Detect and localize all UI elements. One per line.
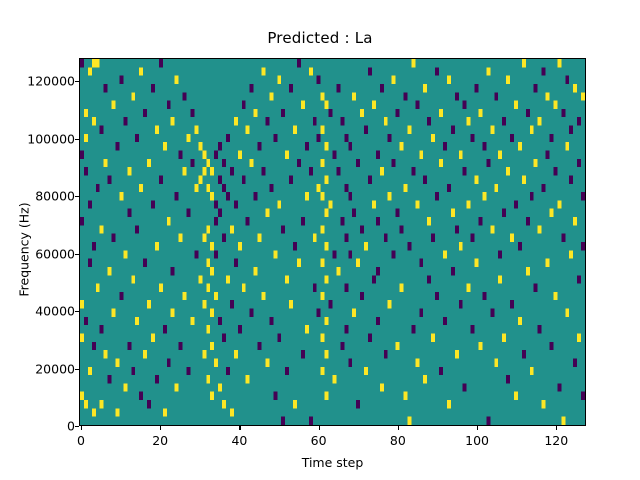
- heatmap-cell: [411, 167, 415, 175]
- heatmap-cell: [404, 92, 408, 100]
- heatmap-cell: [506, 375, 510, 383]
- heatmap-cell: [352, 309, 356, 317]
- heatmap-cell: [265, 209, 269, 217]
- heatmap-cell: [230, 167, 234, 175]
- heatmap-cell: [171, 267, 175, 275]
- heatmap-cell: [289, 175, 293, 183]
- heatmap-cell: [482, 142, 486, 150]
- heatmap-cell: [210, 267, 214, 275]
- heatmap-cell: [321, 225, 325, 233]
- heatmap-cell: [305, 142, 309, 150]
- heatmap-cell: [285, 151, 289, 159]
- heatmap-cell: [471, 325, 475, 333]
- heatmap-cell: [542, 400, 546, 408]
- heatmap-cell: [565, 142, 569, 150]
- heatmap-cell: [336, 84, 340, 92]
- heatmap-cell: [210, 342, 214, 350]
- heatmap-cell: [242, 284, 246, 292]
- heatmap-cell: [206, 284, 210, 292]
- heatmap-cell: [404, 184, 408, 192]
- heatmap-cell: [116, 358, 120, 366]
- heatmap-cell: [490, 225, 494, 233]
- heatmap-cell: [407, 242, 411, 250]
- heatmap-cell: [159, 175, 163, 183]
- heatmap-cell: [356, 259, 360, 267]
- heatmap-cell: [380, 167, 384, 175]
- heatmap-cell: [301, 101, 305, 109]
- heatmap-cell: [325, 101, 329, 109]
- heatmap-cell: [305, 192, 309, 200]
- heatmap-cell: [179, 342, 183, 350]
- heatmap-cell: [281, 417, 285, 425]
- heatmap-cell: [206, 325, 210, 333]
- heatmap-cell: [143, 109, 147, 117]
- heatmap-cell: [289, 84, 293, 92]
- heatmap-cell: [384, 117, 388, 125]
- heatmap-cell: [202, 300, 206, 308]
- heatmap-cell: [194, 184, 198, 192]
- heatmap-cell: [360, 292, 364, 300]
- heatmap-cell: [325, 350, 329, 358]
- heatmap-cell: [202, 151, 206, 159]
- heatmap-cell: [210, 167, 214, 175]
- heatmap-cell: [396, 109, 400, 117]
- x-tick-label: 60: [279, 433, 359, 448]
- heatmap-cell: [581, 192, 585, 200]
- heatmap-cell: [108, 375, 112, 383]
- heatmap-cell: [127, 167, 131, 175]
- heatmap-cell: [313, 117, 317, 125]
- heatmap-cell: [214, 200, 218, 208]
- heatmap-cell: [376, 317, 380, 325]
- heatmap-cell: [96, 284, 100, 292]
- heatmap-cell: [226, 367, 230, 375]
- heatmap-cell: [222, 159, 226, 167]
- heatmap-cell: [439, 159, 443, 167]
- heatmap-cell: [313, 234, 317, 242]
- heatmap-cell: [214, 217, 218, 225]
- heatmap-cell: [151, 200, 155, 208]
- heatmap-cell: [407, 126, 411, 134]
- heatmap-cell: [116, 408, 120, 416]
- heatmap-cell: [325, 142, 329, 150]
- heatmap-cell: [463, 167, 467, 175]
- heatmap-cell: [526, 217, 530, 225]
- heatmap-cell: [392, 250, 396, 258]
- heatmap-cell: [553, 167, 557, 175]
- heatmap-cell: [498, 275, 502, 283]
- heatmap-cell: [321, 292, 325, 300]
- heatmap-cell: [131, 367, 135, 375]
- heatmap-cell: [108, 175, 112, 183]
- heatmap-cell: [451, 267, 455, 275]
- heatmap-cell: [439, 367, 443, 375]
- heatmap-cell: [400, 284, 404, 292]
- x-tick-mark: [239, 426, 240, 430]
- heatmap-cell: [175, 76, 179, 84]
- heatmap-cell: [100, 325, 104, 333]
- heatmap-cell: [210, 309, 214, 317]
- heatmap-cell: [119, 292, 123, 300]
- heatmap-cell: [293, 400, 297, 408]
- heatmap-cell: [119, 76, 123, 84]
- x-tick-label: 20: [120, 433, 200, 448]
- heatmap-cell: [269, 317, 273, 325]
- heatmap-cell: [179, 234, 183, 242]
- heatmap-cell: [325, 317, 329, 325]
- heatmap-cell: [549, 134, 553, 142]
- heatmap-cell: [250, 84, 254, 92]
- heatmap-cell: [301, 350, 305, 358]
- heatmap-cell: [518, 242, 522, 250]
- heatmap-cell: [581, 392, 585, 400]
- heatmap-cell: [463, 101, 467, 109]
- heatmap-cell: [530, 126, 534, 134]
- heatmap-cell: [135, 317, 139, 325]
- heatmap-cell: [100, 400, 104, 408]
- heatmap-cell: [494, 92, 498, 100]
- heatmap-cell: [273, 392, 277, 400]
- x-tick-label: 100: [437, 433, 517, 448]
- heatmap-cell: [187, 367, 191, 375]
- heatmap-cell: [135, 225, 139, 233]
- heatmap-cell: [309, 417, 313, 425]
- heatmap-cell: [218, 383, 222, 391]
- heatmap-cell: [210, 392, 214, 400]
- heatmap-cell: [321, 259, 325, 267]
- heatmap-cell: [364, 126, 368, 134]
- heatmap-cell: [553, 101, 557, 109]
- heatmap-cell: [163, 325, 167, 333]
- heatmap-cell: [238, 242, 242, 250]
- heatmap-cell: [325, 175, 329, 183]
- heatmap-cell: [561, 109, 565, 117]
- heatmap-cell: [340, 117, 344, 125]
- heatmap-cell: [108, 267, 112, 275]
- heatmap-cell: [443, 142, 447, 150]
- heatmap-cell: [510, 234, 514, 242]
- heatmap-cell: [364, 367, 368, 375]
- heatmap-cell: [143, 350, 147, 358]
- heatmap-cell: [198, 175, 202, 183]
- heatmap-cell: [214, 292, 218, 300]
- heatmap-cell: [447, 76, 451, 84]
- heatmap-cell: [542, 184, 546, 192]
- heatmap-cell: [317, 184, 321, 192]
- heatmap-cell: [112, 234, 116, 242]
- heatmap-cell: [435, 67, 439, 75]
- heatmap-cell: [100, 225, 104, 233]
- heatmap-cell: [459, 300, 463, 308]
- heatmap-cell: [297, 159, 301, 167]
- heatmap-cell: [265, 358, 269, 366]
- heatmap-cell: [368, 67, 372, 75]
- heatmap-cell: [84, 134, 88, 142]
- heatmap-cell: [187, 209, 191, 217]
- heatmap-cell: [127, 209, 131, 217]
- heatmap-cell: [119, 192, 123, 200]
- heatmap-cell: [88, 67, 92, 75]
- y-tick-label: 40000: [0, 304, 75, 319]
- x-axis-label: Time step: [79, 455, 586, 470]
- heatmap-cell: [222, 400, 226, 408]
- y-tick-label: 100000: [0, 131, 75, 146]
- heatmap-cell: [447, 184, 451, 192]
- heatmap-cell: [384, 234, 388, 242]
- heatmap-cell: [392, 76, 396, 84]
- heatmap-cell: [325, 209, 329, 217]
- heatmap-cell: [305, 325, 309, 333]
- heatmap-cell: [325, 275, 329, 283]
- heatmap-cell: [348, 250, 352, 258]
- heatmap-cell: [277, 334, 281, 342]
- heatmap-cell: [546, 151, 550, 159]
- heatmap-cell: [427, 275, 431, 283]
- heatmap-cell: [321, 192, 325, 200]
- heatmap-cell: [285, 367, 289, 375]
- heatmap-cell: [151, 334, 155, 342]
- heatmap-image: [80, 59, 585, 425]
- heatmap-cell: [518, 317, 522, 325]
- heatmap-cell: [84, 400, 88, 408]
- heatmap-cell: [254, 192, 258, 200]
- heatmap-cell: [147, 400, 151, 408]
- heatmap-cell: [226, 134, 230, 142]
- heatmap-cell: [190, 109, 194, 117]
- heatmap-cell: [84, 167, 88, 175]
- heatmap-cell: [482, 192, 486, 200]
- heatmap-cell: [206, 375, 210, 383]
- heatmap-cell: [261, 167, 265, 175]
- heatmap-cell: [518, 142, 522, 150]
- heatmap-cell: [514, 392, 518, 400]
- heatmap-cell: [364, 242, 368, 250]
- heatmap-cell: [317, 309, 321, 317]
- heatmap-cell: [530, 367, 534, 375]
- heatmap-cell: [506, 167, 510, 175]
- heatmap-cell: [183, 92, 187, 100]
- heatmap-cell: [104, 350, 108, 358]
- heatmap-cell: [522, 175, 526, 183]
- heatmap-cell: [348, 358, 352, 366]
- heatmap-cell: [80, 392, 84, 400]
- heatmap-cell: [210, 192, 214, 200]
- heatmap-cell: [415, 200, 419, 208]
- heatmap-cell: [478, 217, 482, 225]
- heatmap-cell: [214, 250, 218, 258]
- heatmap-cell: [194, 126, 198, 134]
- heatmap-cell: [581, 92, 585, 100]
- heatmap-cell: [439, 109, 443, 117]
- heatmap-cell: [376, 151, 380, 159]
- heatmap-cell: [100, 126, 104, 134]
- heatmap-cell: [336, 167, 340, 175]
- heatmap-cell: [104, 84, 108, 92]
- heatmap-cell: [431, 234, 435, 242]
- heatmap-cell: [404, 392, 408, 400]
- heatmap-cell: [356, 400, 360, 408]
- heatmap-cell: [116, 142, 120, 150]
- heatmap-cell: [297, 259, 301, 267]
- heatmap-cell: [419, 309, 423, 317]
- heatmap-cell: [147, 300, 151, 308]
- heatmap-cell: [573, 358, 577, 366]
- heatmap-cell: [206, 259, 210, 267]
- heatmap-cell: [329, 109, 333, 117]
- heatmap-cell: [254, 109, 258, 117]
- heatmap-cell: [265, 117, 269, 125]
- heatmap-cell: [494, 358, 498, 366]
- x-tick-mark: [556, 426, 557, 430]
- heatmap-cell: [534, 84, 538, 92]
- heatmap-cell: [80, 217, 84, 225]
- heatmap-cell: [546, 259, 550, 267]
- heatmap-cell: [246, 126, 250, 134]
- heatmap-cell: [459, 242, 463, 250]
- heatmap-cell: [139, 392, 143, 400]
- heatmap-cell: [340, 342, 344, 350]
- page-title: Predicted : La: [0, 29, 640, 47]
- heatmap-cell: [352, 209, 356, 217]
- heatmap-cell: [376, 267, 380, 275]
- heatmap-cell: [577, 334, 581, 342]
- heatmap-cell: [415, 358, 419, 366]
- heatmap-cell: [352, 92, 356, 100]
- x-tick-mark: [319, 426, 320, 430]
- heatmap-cell: [297, 59, 301, 67]
- heatmap-cell: [546, 92, 550, 100]
- heatmap-cell: [112, 309, 116, 317]
- heatmap-cell: [84, 109, 88, 117]
- heatmap-cell: [202, 234, 206, 242]
- heatmap-cell: [451, 126, 455, 134]
- heatmap-cell: [427, 217, 431, 225]
- heatmap-cell: [321, 367, 325, 375]
- heatmap-cell: [210, 242, 214, 250]
- heatmap-cell: [155, 126, 159, 134]
- x-tick-label: 0: [41, 433, 121, 448]
- x-tick-label: 120: [516, 433, 596, 448]
- heatmap-cell: [143, 259, 147, 267]
- heatmap-cell: [190, 317, 194, 325]
- heatmap-cell: [309, 67, 313, 75]
- heatmap-cell: [569, 175, 573, 183]
- heatmap-cell: [222, 234, 226, 242]
- y-tick-mark: [75, 81, 79, 82]
- heatmap-cell: [293, 126, 297, 134]
- heatmap-cell: [526, 267, 530, 275]
- heatmap-cell: [534, 284, 538, 292]
- heatmap-cell: [163, 142, 167, 150]
- heatmap-cell: [569, 250, 573, 258]
- y-tick-label: 60000: [0, 246, 75, 261]
- heatmap-cell: [80, 59, 84, 67]
- heatmap-cell: [344, 234, 348, 242]
- heatmap-cell: [218, 142, 222, 150]
- heatmap-cell: [502, 334, 506, 342]
- heatmap-cell: [226, 275, 230, 283]
- heatmap-cell: [471, 234, 475, 242]
- heatmap-cell: [198, 275, 202, 283]
- heatmap-cell: [92, 408, 96, 416]
- heatmap-cell: [80, 151, 84, 159]
- heatmap-cell: [242, 175, 246, 183]
- heatmap-cell: [261, 67, 265, 75]
- heatmap-cell: [321, 159, 325, 167]
- heatmap-cell: [226, 192, 230, 200]
- heatmap-cell: [475, 84, 479, 92]
- heatmap-cell: [514, 200, 518, 208]
- heatmap-cell: [123, 383, 127, 391]
- heatmap-cell: [577, 159, 581, 167]
- heatmap-cell: [384, 350, 388, 358]
- heatmap-cell: [175, 383, 179, 391]
- heatmap-cell: [557, 59, 561, 67]
- heatmap-cell: [333, 375, 337, 383]
- heatmap-cell: [510, 300, 514, 308]
- heatmap-cell: [423, 84, 427, 92]
- heatmap-cell: [202, 350, 206, 358]
- heatmap-cell: [549, 209, 553, 217]
- heatmap-cell: [277, 76, 281, 84]
- heatmap-cell: [293, 242, 297, 250]
- heatmap-cell: [277, 200, 281, 208]
- heatmap-cell: [183, 167, 187, 175]
- heatmap-cell: [447, 400, 451, 408]
- heatmap-cell: [344, 134, 348, 142]
- heatmap-cell: [131, 92, 135, 100]
- heatmap-cell: [427, 117, 431, 125]
- heatmap-cell: [443, 250, 447, 258]
- heatmap-cell: [498, 250, 502, 258]
- heatmap-cell: [522, 350, 526, 358]
- heatmap-cell: [230, 408, 234, 416]
- heatmap-cell: [234, 200, 238, 208]
- heatmap-cell: [368, 334, 372, 342]
- y-tick-label: 80000: [0, 189, 75, 204]
- heatmap-cell: [317, 134, 321, 142]
- heatmap-cell: [254, 267, 258, 275]
- heatmap-cell: [344, 284, 348, 292]
- heatmap-cell: [467, 117, 471, 125]
- heatmap-cell: [360, 225, 364, 233]
- heatmap-cell: [443, 317, 447, 325]
- heatmap-cell: [376, 217, 380, 225]
- heatmap-cell: [155, 375, 159, 383]
- heatmap-cell: [214, 358, 218, 366]
- heatmap-cell: [289, 300, 293, 308]
- heatmap-cell: [198, 142, 202, 150]
- heatmap-cell: [407, 417, 411, 425]
- x-tick-label: 40: [199, 433, 279, 448]
- heatmap-cell: [159, 59, 163, 67]
- heatmap-cell: [273, 134, 277, 142]
- heatmap-cell: [400, 142, 404, 150]
- heatmap-cell: [475, 259, 479, 267]
- heatmap-cell: [321, 92, 325, 100]
- heatmap-cell: [163, 408, 167, 416]
- heatmap-cell: [84, 317, 88, 325]
- heatmap-cell: [179, 151, 183, 159]
- heatmap-cell: [561, 234, 565, 242]
- heatmap-cell: [557, 200, 561, 208]
- heatmap-cell: [333, 151, 337, 159]
- heatmap-cell: [269, 92, 273, 100]
- heatmap-cell: [482, 292, 486, 300]
- heatmap-cell: [435, 192, 439, 200]
- heatmap-cell: [167, 358, 171, 366]
- heatmap-cell: [561, 417, 565, 425]
